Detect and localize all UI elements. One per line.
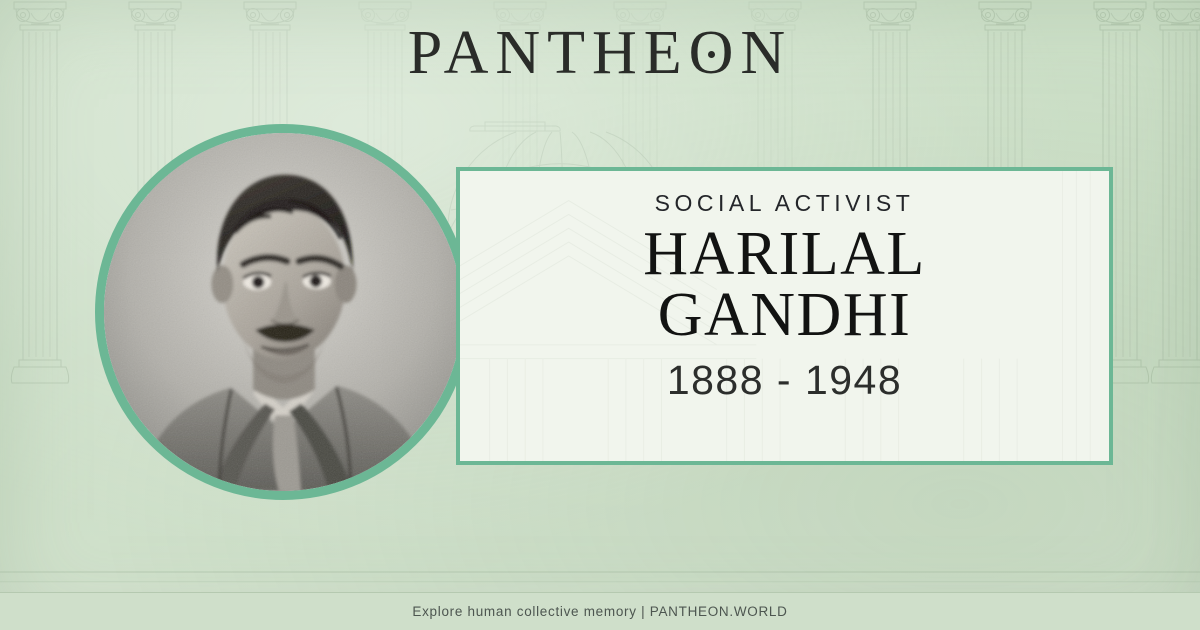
footer-tagline: Explore human collective memory | PANTHE… [412,604,787,619]
logo-letter-o-glyph: O [689,19,741,87]
portrait-photo-image [104,133,462,491]
card-content: SOCIAL ACTIVIST HARILAL GANDHI 1888 - 19… [460,171,1109,404]
pantheon-logo: PANTHEON [0,22,1200,84]
portrait-photo [104,133,462,491]
occupation-label: SOCIAL ACTIVIST [460,190,1109,217]
dot-in-o-icon [708,51,715,58]
logo-text-part-1: PANTHE [408,19,689,87]
og-card-canvas: PANTHEON [0,0,1200,630]
person-name-line-1: HARILAL [460,224,1109,285]
person-name: HARILAL GANDHI [460,224,1109,347]
person-name-line-2: GANDHI [460,285,1109,346]
logo-letter-o: O [689,22,741,84]
person-info-card: SOCIAL ACTIVIST HARILAL GANDHI 1888 - 19… [456,167,1113,465]
portrait-avatar [95,124,471,500]
lifespan-label: 1888 - 1948 [460,357,1109,404]
logo-text-part-2: N [740,19,792,87]
footer-bar: Explore human collective memory | PANTHE… [0,592,1200,630]
